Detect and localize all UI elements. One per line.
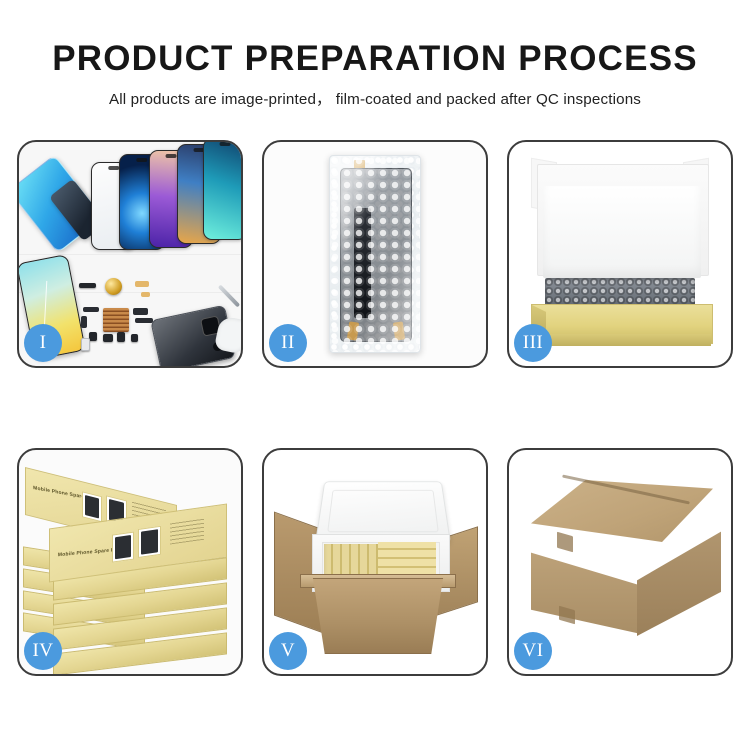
yellow-box-front [531,334,711,346]
header: PRODUCT PREPARATION PROCESS All products… [0,0,750,109]
product-preparation-infographic: PRODUCT PREPARATION PROCESS All products… [0,0,750,750]
step-badge-2: II [269,324,307,362]
cyan-wallpaper-screen [203,142,241,240]
process-step-5[interactable]: V [262,448,488,676]
process-step-4[interactable]: Mobile Phone Spare Parts Mobile Phone Sp… [17,448,243,676]
process-step-3[interactable]: III [507,140,733,368]
process-step-2[interactable]: II [262,140,488,368]
process-step-grid: I II [17,140,733,676]
step-badge-3: III [514,324,552,362]
step-badge-1: I [24,324,62,362]
bubble-wrap-bag [329,155,421,353]
copper-mesh-component [103,308,129,332]
step-badge-6: VI [514,632,552,670]
white-foam-lining [543,186,701,278]
page-title: PRODUCT PREPARATION PROCESS [0,0,750,78]
step-badge-4: IV [24,632,62,670]
step-badge-5: V [269,632,307,670]
tweezers [218,285,240,308]
carton-left-face [531,524,641,634]
carton-body [304,578,452,654]
page-subtitle: All products are image-printed， film-coa… [0,78,750,109]
coil-component [105,278,122,295]
carton-tape-upper [557,532,573,553]
process-step-6[interactable]: VI [507,448,733,676]
process-step-1[interactable]: I [17,140,243,368]
